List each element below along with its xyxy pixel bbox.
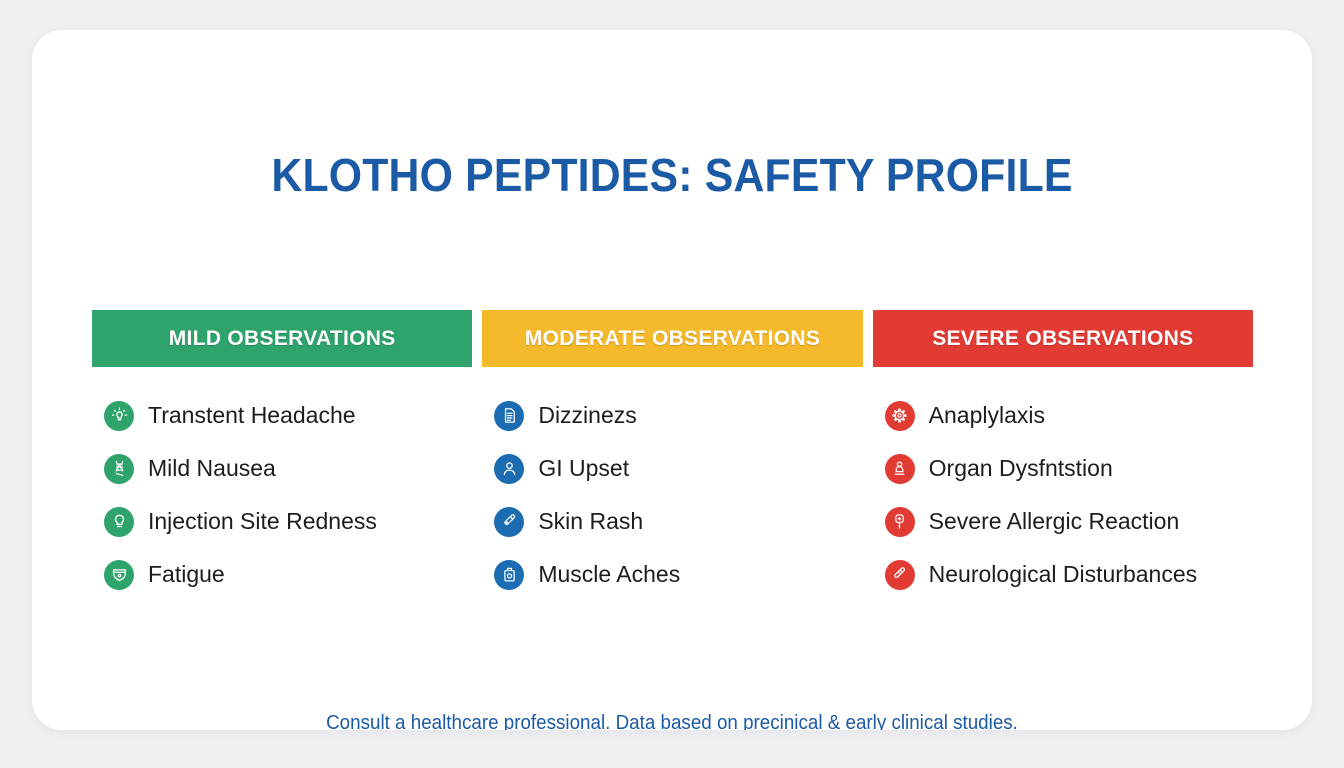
item-list-moderate: Dizzinezs GI Upset (482, 367, 862, 601)
list-item-label: Muscle Aches (538, 561, 680, 588)
list-item[interactable]: Dizzinezs (482, 389, 862, 442)
person-icon (494, 454, 524, 484)
item-list-severe: Anaplylaxis Organ Dysfntstion (873, 367, 1253, 601)
column-header-moderate: MODERATE OBSERVATIONS (482, 310, 862, 367)
iv-drip-icon (885, 507, 915, 537)
dna-strand-icon (104, 454, 134, 484)
list-item[interactable]: Organ Dysfntstion (873, 442, 1253, 495)
item-list-mild: Transtent Headache Mild (92, 367, 472, 601)
list-item[interactable]: Mild Nausea (92, 442, 472, 495)
list-item-label: Organ Dysfntstion (929, 455, 1113, 482)
list-item[interactable]: Anaplylaxis (873, 389, 1253, 442)
list-item[interactable]: Injection Site Redness (92, 495, 472, 548)
syringe-icon (885, 560, 915, 590)
column-moderate: MODERATE OBSERVATIONS Dizz (482, 310, 862, 601)
list-item[interactable]: Muscle Aches (482, 548, 862, 601)
list-item-label: Mild Nausea (148, 455, 276, 482)
list-item-label: Skin Rash (538, 508, 643, 535)
lightbulb-icon (104, 507, 134, 537)
virus-cell-icon (885, 401, 915, 431)
infographic-page: KLOTHO PEPTIDES: SAFETY PROFILE MILD OBS… (0, 0, 1344, 768)
list-item[interactable]: GI Upset (482, 442, 862, 495)
infographic-card: KLOTHO PEPTIDES: SAFETY PROFILE MILD OBS… (32, 30, 1312, 730)
list-item[interactable]: Fatigue (92, 548, 472, 601)
list-item-label: Anaplylaxis (929, 402, 1045, 429)
severity-columns: MILD OBSERVATIONS (92, 310, 1253, 601)
vial-bottle-icon (494, 560, 524, 590)
thermometer-icon (494, 507, 524, 537)
footer-disclaimer: Consult a healthcare professional. Data … (70, 712, 1273, 730)
document-icon (494, 401, 524, 431)
list-item[interactable]: Neurological Disturbances (873, 548, 1253, 601)
column-header-severe: SEVERE OBSERVATIONS (873, 310, 1253, 367)
list-item[interactable]: Skin Rash (482, 495, 862, 548)
list-item-label: Neurological Disturbances (929, 561, 1197, 588)
shield-icon (104, 560, 134, 590)
column-header-mild: MILD OBSERVATIONS (92, 310, 472, 367)
list-item[interactable]: Severe Allergic Reaction (873, 495, 1253, 548)
column-severe: SEVERE OBSERVATIONS (873, 310, 1253, 601)
lightbulb-idea-icon (104, 401, 134, 431)
list-item-label: GI Upset (538, 455, 629, 482)
list-item-label: Transtent Headache (148, 402, 356, 429)
column-mild: MILD OBSERVATIONS (92, 310, 472, 601)
list-item-label: Dizzinezs (538, 402, 636, 429)
person-alert-icon (885, 454, 915, 484)
list-item-label: Injection Site Redness (148, 508, 377, 535)
list-item-label: Severe Allergic Reaction (929, 508, 1180, 535)
list-item-label: Fatigue (148, 561, 225, 588)
list-item[interactable]: Transtent Headache (92, 389, 472, 442)
page-title: KLOTHO PEPTIDES: SAFETY PROFILE (77, 148, 1267, 202)
